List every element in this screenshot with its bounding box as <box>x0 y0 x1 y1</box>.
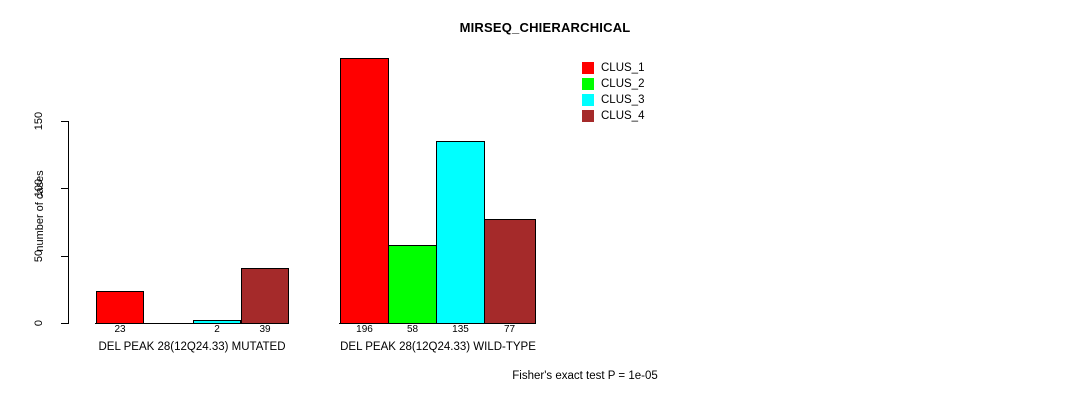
y-axis-tick-label-0: 0 <box>33 303 45 343</box>
bar-value-group2-clus4: 77 <box>489 324 530 335</box>
legend-swatch-clus1 <box>582 62 594 74</box>
bar-group2-clus3 <box>436 141 485 324</box>
legend-label-clus2: CLUS_2 <box>601 78 644 90</box>
y-axis-tick-150 <box>61 121 68 122</box>
bar-group1-clus4 <box>241 268 289 324</box>
y-axis-tick-label-150: 150 <box>33 101 45 141</box>
y-axis-title: number of cases <box>34 151 46 271</box>
y-axis-tick-100 <box>61 188 68 189</box>
statistical-test-note: Fisher's exact test P = 1e-05 <box>0 370 1090 382</box>
y-axis-line <box>68 121 69 324</box>
group-label-wild-type: DEL PEAK 28(12Q24.33) WILD-TYPE <box>326 341 550 353</box>
bar-group1-clus1 <box>96 291 144 324</box>
page-title: MIRSEQ_CHIERARCHICAL <box>0 20 1090 35</box>
bar-value-group2-clus1: 196 <box>344 324 385 335</box>
y-axis-tick-0 <box>61 323 68 324</box>
legend: CLUS_1 CLUS_2 CLUS_3 CLUS_4 <box>582 60 644 124</box>
y-axis-tick-50 <box>61 256 68 257</box>
bar-group2-clus4 <box>484 219 536 324</box>
bar-value-group1-clus1: 23 <box>100 324 140 335</box>
legend-item-clus1: CLUS_1 <box>582 60 644 75</box>
legend-label-clus3: CLUS_3 <box>601 94 644 106</box>
legend-swatch-clus4 <box>582 110 594 122</box>
bar-value-group2-clus3: 135 <box>440 324 481 335</box>
legend-label-clus1: CLUS_1 <box>601 62 644 74</box>
bar-value-group1-clus3: 2 <box>197 324 237 335</box>
legend-swatch-clus2 <box>582 78 594 90</box>
legend-item-clus4: CLUS_4 <box>582 108 644 123</box>
bar-group2-clus1 <box>340 58 389 324</box>
bar-group2-clus2 <box>388 245 437 324</box>
group-label-mutated: DEL PEAK 28(12Q24.33) MUTATED <box>92 341 292 353</box>
legend-item-clus2: CLUS_2 <box>582 76 644 91</box>
legend-label-clus4: CLUS_4 <box>601 110 644 122</box>
legend-item-clus3: CLUS_3 <box>582 92 644 107</box>
bar-chart-plot: MIRSEQ_CHIERARCHICAL 150 100 50 0 number… <box>0 0 1090 400</box>
bar-value-group1-clus4: 39 <box>245 324 285 335</box>
bar-value-group2-clus2: 58 <box>392 324 433 335</box>
legend-swatch-clus3 <box>582 94 594 106</box>
